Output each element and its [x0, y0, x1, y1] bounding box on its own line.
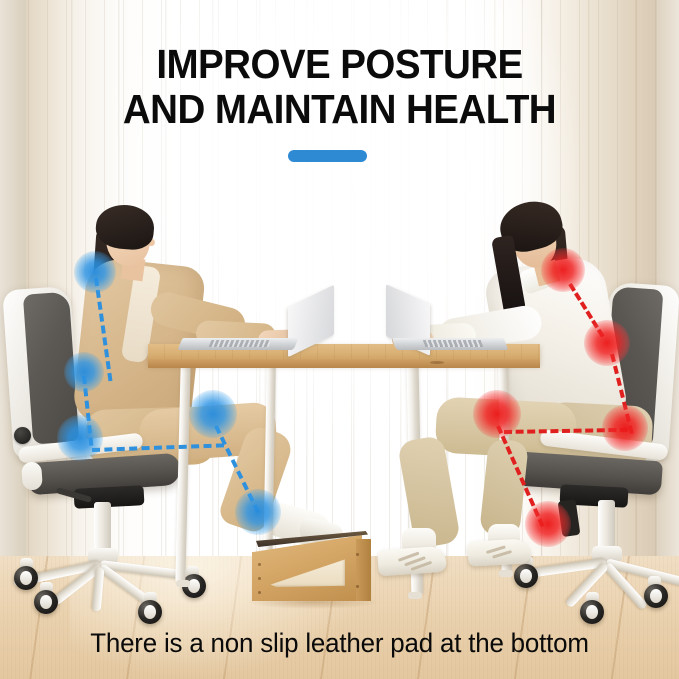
right-person-sneaker-back	[467, 538, 530, 566]
right-person-sneaker-front	[377, 546, 447, 577]
left-caster-4	[138, 600, 162, 624]
left-laptop-keys	[209, 340, 272, 347]
right-caster-2	[644, 584, 668, 608]
left-caster-2	[14, 566, 38, 590]
footrest-screw-5	[356, 585, 359, 588]
left-chair-tension-knob	[14, 427, 31, 444]
footrest-screw-2	[258, 577, 261, 580]
headline-divider-bar	[288, 150, 367, 162]
desk-foot-3	[408, 592, 422, 599]
right-laptop-keys	[423, 340, 484, 347]
desk-foot-4	[499, 570, 513, 577]
footrest-screw-4	[356, 553, 359, 556]
desk-foot-1	[176, 580, 190, 587]
bottom-caption: There is a non slip leather pad at the b…	[14, 628, 666, 659]
headline-line-2: AND MAINTAIN HEALTH	[20, 89, 658, 130]
desk-wood-knot	[430, 361, 444, 364]
right-caster-3	[580, 600, 604, 624]
footrest-screw-3	[258, 591, 261, 594]
left-chair-seat-edge	[21, 461, 43, 490]
left-caster-3	[34, 590, 58, 614]
wooden-footrest	[252, 527, 378, 605]
footrest-back-panel	[356, 539, 371, 601]
product-image-canvas: IMPROVE POSTURE AND MAINTAIN HEALTH Ther…	[0, 0, 679, 679]
right-caster-1	[514, 564, 538, 588]
headline-line-1: IMPROVE POSTURE	[20, 44, 658, 85]
footrest-screw-1	[258, 563, 261, 566]
desk-edge	[148, 359, 540, 368]
